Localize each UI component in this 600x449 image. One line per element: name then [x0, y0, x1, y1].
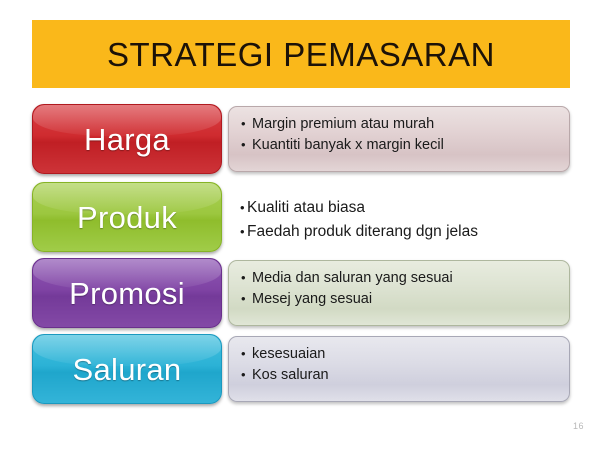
content-panel-promosi: • Media dan saluran yang sesuai • Mesej … [228, 260, 570, 326]
label-box-harga[interactable]: Harga [32, 104, 222, 174]
bullet-text: Media dan saluran yang sesuai [252, 268, 453, 289]
label-box-produk[interactable]: Produk [32, 182, 222, 252]
strategy-row-saluran: Saluran • kesesuaian • Kos saluran [0, 334, 600, 406]
bullet-text: Kos saluran [252, 365, 329, 386]
bullet-list-promosi: • Media dan saluran yang sesuai • Mesej … [241, 268, 569, 310]
bullet-icon: • [240, 225, 247, 238]
label-text-saluran: Saluran [73, 354, 182, 385]
page-number: 16 [573, 421, 584, 431]
content-panel-saluran: • kesesuaian • Kos saluran [228, 336, 570, 402]
label-text-promosi: Promosi [69, 278, 185, 309]
label-box-promosi[interactable]: Promosi [32, 258, 222, 328]
bullet-list-harga: • Margin premium atau murah • Kuantiti b… [241, 114, 569, 156]
bullet-text: kesesuaian [252, 344, 325, 365]
page-title: STRATEGI PEMASARAN [107, 38, 495, 71]
bullet-text: Margin premium atau murah [252, 114, 434, 135]
list-item: • Kualiti atau biasa [240, 196, 570, 220]
list-item: • Mesej yang sesuai [241, 289, 569, 310]
bullet-icon: • [241, 368, 252, 381]
bullet-text: Faedah produk diterang dgn jelas [247, 220, 478, 244]
bullet-text: Kualiti atau biasa [247, 196, 365, 220]
list-item: • Media dan saluran yang sesuai [241, 268, 569, 289]
slide-canvas: STRATEGI PEMASARAN Harga • Margin premiu… [0, 0, 600, 449]
strategy-row-promosi: Promosi • Media dan saluran yang sesuai … [0, 258, 600, 330]
list-item: • Kuantiti banyak x margin kecil [241, 135, 569, 156]
list-item: • Margin premium atau murah [241, 114, 569, 135]
bullet-icon: • [241, 138, 252, 151]
bullet-list-saluran: • kesesuaian • Kos saluran [241, 344, 569, 386]
bullet-text: Mesej yang sesuai [252, 289, 372, 310]
strategy-row-harga: Harga • Margin premium atau murah • Kuan… [0, 104, 600, 176]
list-item: • Kos saluran [241, 365, 569, 386]
content-panel-harga: • Margin premium atau murah • Kuantiti b… [228, 106, 570, 172]
bullet-icon: • [241, 271, 252, 284]
content-panel-produk: • Kualiti atau biasa • Faedah produk dit… [228, 184, 570, 250]
bullet-icon: • [241, 347, 252, 360]
list-item: • kesesuaian [241, 344, 569, 365]
title-banner: STRATEGI PEMASARAN [32, 20, 570, 88]
bullet-icon: • [240, 201, 247, 214]
strategy-row-produk: Produk • Kualiti atau biasa • Faedah pro… [0, 182, 600, 254]
label-text-harga: Harga [84, 124, 170, 155]
list-item: • Faedah produk diterang dgn jelas [240, 220, 570, 244]
bullet-icon: • [241, 292, 252, 305]
bullet-text: Kuantiti banyak x margin kecil [252, 135, 444, 156]
bullet-icon: • [241, 117, 252, 130]
bullet-list-produk: • Kualiti atau biasa • Faedah produk dit… [240, 191, 570, 244]
label-box-saluran[interactable]: Saluran [32, 334, 222, 404]
label-text-produk: Produk [77, 202, 177, 233]
